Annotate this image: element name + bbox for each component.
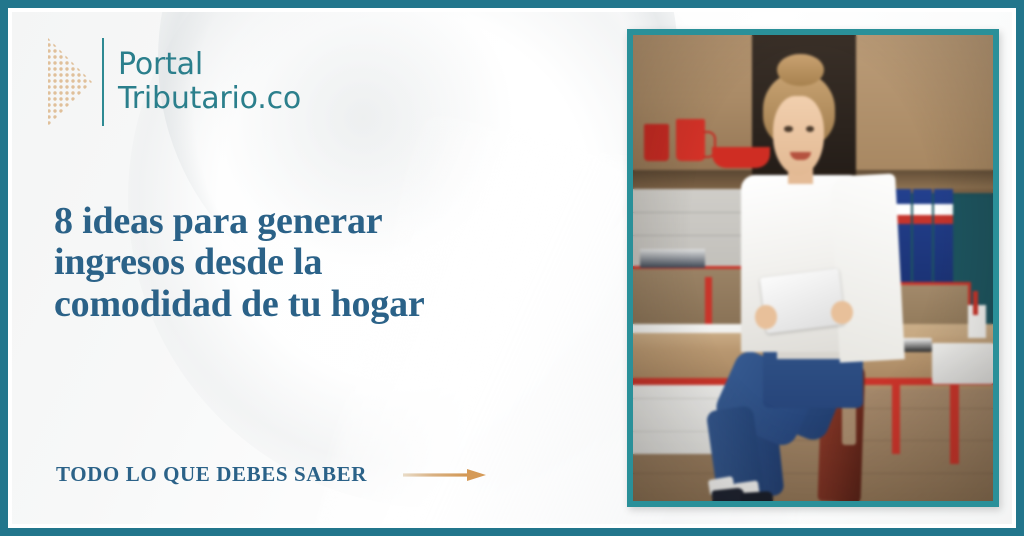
photo-person-hand [755,305,777,328]
brand-name: Portal Tributario.co [118,48,301,115]
frame-edge-bottom [0,528,1024,536]
photo-smartphone [899,338,931,352]
hero-photo [627,29,999,507]
photo-binder [913,189,932,282]
photo-pen [973,291,978,314]
photo-red-mug [644,124,669,161]
photo-red-mug [676,119,705,161]
photo-desk-leg [892,380,900,455]
promo-banner: Portal Tributario.co 8 ideas para genera… [0,0,1024,536]
headline-line-1: 8 ideas para generar [54,201,574,242]
headline-line-2: ingresos desde la [54,242,574,283]
photo-desk-leg [950,380,959,464]
brand-logo[interactable]: Portal Tributario.co [46,36,301,128]
photo-person-hand [831,301,853,324]
photo-laptop [932,343,993,385]
photo-person-hair-bun [777,54,824,87]
page-title: 8 ideas para generar ingresos desde la c… [54,201,574,324]
logo-divider [102,38,104,126]
tagline-text: TODO LO QUE DEBES SABER [56,462,367,487]
photo-cabinet-right [856,35,993,189]
arrow-right-icon [403,468,487,482]
brand-name-line2: Tributario.co [118,82,301,116]
frame-edge-right [1016,0,1024,536]
photo-person-blazer-sleeve [830,173,904,363]
photo-chair-cutout [842,403,856,445]
frame-edge-left [0,0,8,536]
brand-name-line1: Portal [118,48,301,82]
photo-red-bowl [712,147,770,168]
photo-person-shoe [741,491,774,501]
dotted-triangle-icon [46,36,94,128]
headline-line-3: comodidad de tu hogar [54,284,574,325]
frame-edge-top [0,0,1024,8]
photo-binder [934,189,953,282]
hero-photo-scene [633,35,993,501]
photo-person-face [773,96,823,175]
photo-papers [640,249,705,268]
tagline-row: TODO LO QUE DEBES SABER [56,462,487,487]
photo-floor-plank [633,473,993,474]
